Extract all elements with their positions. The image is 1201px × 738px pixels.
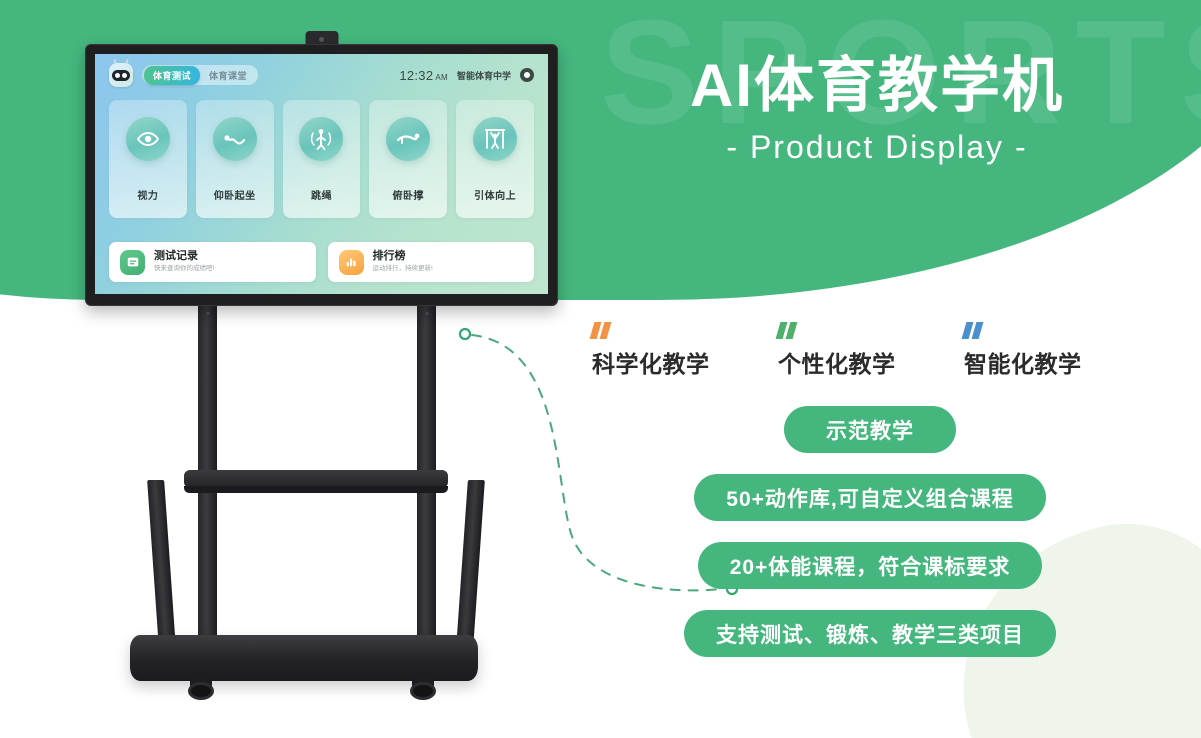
feature-personalized-teaching: 个性化教学 (778, 322, 964, 379)
feature-heading-row: 科学化教学 个性化教学 智能化教学 (592, 322, 1152, 379)
pull-up-icon (473, 117, 517, 161)
interactive-display-device: 体育测试 体育课堂 12:32AM 智能体育中学 (85, 44, 558, 306)
pill-row: 示范教学 (560, 406, 1180, 453)
tab-sports-classroom[interactable]: 体育课堂 (200, 66, 256, 85)
clock: 12:32AM (399, 68, 448, 83)
feature-intelligent-teaching: 智能化教学 (964, 322, 1150, 379)
shortcut-card-subtitle: 快来查询你的成绩吧! (154, 266, 214, 273)
page-subtitle: - Product Display - (690, 129, 1064, 166)
screen-tab-group: 体育测试 体育课堂 (142, 65, 258, 85)
feature-title: 智能化教学 (964, 345, 1150, 379)
mobile-stand (85, 300, 558, 720)
pill-row: 50+动作库,可自定义组合课程 (560, 474, 1180, 521)
sit-up-icon (213, 117, 257, 161)
gear-icon[interactable] (520, 68, 534, 82)
shortcut-card-text: 测试记录 快来查询你的成绩吧! (154, 251, 214, 272)
caster-wheel-icon (188, 682, 214, 700)
robot-antenna-left-icon (113, 59, 116, 64)
app-label: 引体向上 (474, 187, 516, 202)
pill-demo-teaching[interactable]: 示范教学 (784, 406, 956, 453)
quote-mark-green-icon (778, 322, 964, 339)
shortcut-card-leaderboard[interactable]: 排行榜 运动排行，持续更新! (328, 242, 535, 282)
caster-wheel-left (188, 674, 214, 700)
shortcut-card-subtitle: 运动排行，持续更新! (373, 266, 433, 273)
push-up-icon (386, 117, 430, 161)
app-card-grid: 视力 仰卧起坐 (109, 100, 534, 218)
tab-sports-test[interactable]: 体育测试 (144, 66, 200, 85)
device-screen: 体育测试 体育课堂 12:32AM 智能体育中学 (95, 54, 548, 294)
stand-leg-left (147, 480, 176, 648)
shortcut-card-text: 排行榜 运动排行，持续更新! (373, 251, 433, 272)
pill-row: 20+体能课程，符合课标要求 (560, 542, 1180, 589)
caster-wheel-right (410, 674, 436, 700)
robot-eye-right-icon (122, 73, 127, 78)
app-label: 视力 (137, 187, 158, 202)
screen-topbar-right: 12:32AM 智能体育中学 (399, 68, 534, 83)
app-card-situp[interactable]: 仰卧起坐 (196, 100, 274, 218)
pill-fitness-courses[interactable]: 20+体能课程，符合课标要求 (698, 542, 1043, 589)
page-title: AI体育教学机 (690, 52, 1064, 119)
clock-meridiem: AM (435, 73, 448, 82)
app-label: 俯卧撑 (393, 187, 425, 202)
clock-time: 12:32 (399, 68, 433, 83)
app-card-pullup[interactable]: 引体向上 (456, 100, 534, 218)
shortcut-card-title: 排行榜 (373, 251, 433, 263)
shortcut-card-title: 测试记录 (154, 251, 214, 263)
stand-shelf-edge (184, 486, 448, 493)
feature-pill-list: 示范教学 50+动作库,可自定义组合课程 20+体能课程，符合课标要求 支持测试… (560, 406, 1180, 678)
school-name-label: 智能体育中学 (457, 69, 511, 82)
robot-face (112, 70, 130, 81)
app-card-vision[interactable]: 视力 (109, 100, 187, 218)
app-label: 仰卧起坐 (214, 187, 256, 202)
robot-eye-left-icon (115, 73, 120, 78)
stand-leg-right (456, 480, 485, 648)
pill-three-project-types[interactable]: 支持测试、锻炼、教学三类项目 (684, 610, 1056, 657)
title-block: AI体育教学机 - Product Display - (690, 52, 1064, 166)
screen-topbar: 体育测试 体育课堂 12:32AM 智能体育中学 (109, 62, 534, 88)
caster-wheel-icon (410, 682, 436, 700)
robot-avatar-icon[interactable] (109, 63, 133, 87)
jump-rope-icon (299, 117, 343, 161)
pill-row: 支持测试、锻炼、教学三类项目 (560, 610, 1180, 657)
quote-mark-blue-icon (964, 322, 1150, 339)
feature-scientific-teaching: 科学化教学 (592, 322, 778, 379)
app-label: 跳绳 (311, 187, 332, 202)
screw-icon (206, 312, 209, 315)
record-list-icon (120, 250, 145, 275)
feature-title: 个性化教学 (778, 345, 964, 379)
bar-chart-icon (339, 250, 364, 275)
pill-action-library[interactable]: 50+动作库,可自定义组合课程 (694, 474, 1045, 521)
shortcut-card-test-records[interactable]: 测试记录 快来查询你的成绩吧! (109, 242, 316, 282)
app-card-jumprope[interactable]: 跳绳 (283, 100, 361, 218)
eye-icon (126, 117, 170, 161)
app-card-pushup[interactable]: 俯卧撑 (369, 100, 447, 218)
robot-antenna-right-icon (125, 59, 128, 64)
quote-mark-orange-icon (592, 322, 778, 339)
feature-title: 科学化教学 (592, 345, 778, 379)
poster-canvas: SPORTS AI体育教学机 - Product Display - (0, 0, 1201, 738)
screen-shortcut-row: 测试记录 快来查询你的成绩吧! 排行榜 运动排行，持续更新! (109, 242, 534, 282)
screw-icon (425, 312, 428, 315)
